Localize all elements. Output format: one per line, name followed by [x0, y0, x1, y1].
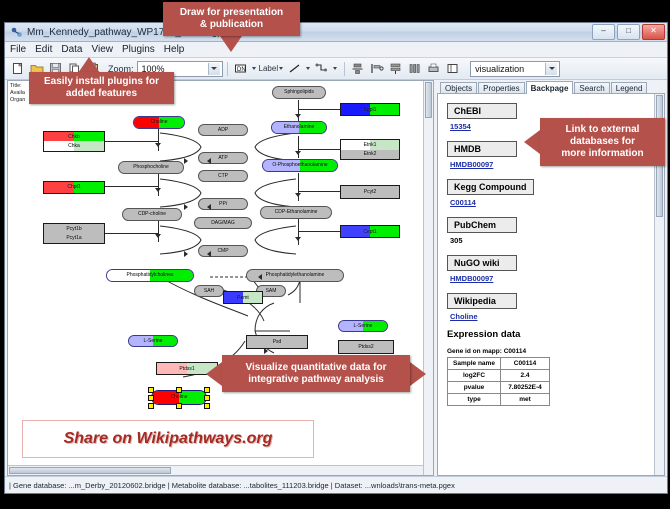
node-label: Sphingolipids — [284, 90, 314, 95]
table-row: Sample name C00114 — [448, 358, 550, 370]
table-row: type met — [448, 394, 550, 406]
arrow-down-4 — [295, 114, 301, 118]
gene-box-sgpl1[interactable]: Sgpl1 — [340, 103, 400, 116]
cell-key: log2FC — [448, 370, 501, 382]
canvas-hscrollbar[interactable] — [8, 465, 433, 475]
gene-box-etnk1[interactable]: Etnk1 — [340, 139, 400, 151]
cell-value: 2.4 — [501, 370, 550, 382]
callout-link-line1: Link to external — [561, 124, 643, 136]
callout-plugins-line2: added features — [44, 88, 159, 100]
gene-box-etnk2[interactable]: Etnk2 — [340, 149, 400, 160]
gene-label: Psd — [247, 339, 307, 345]
node-cmp[interactable]: CMP — [198, 245, 248, 257]
callout-link-arrow-icon — [524, 130, 540, 154]
cell-value: 7.80252E-4 — [501, 382, 550, 394]
pathway-canvas-panel[interactable]: Title: Availa Organ — [7, 80, 434, 476]
status-text: | Gene database: ...m_Derby_20120602.bri… — [9, 481, 455, 490]
tab-objects[interactable]: Objects — [440, 82, 477, 93]
db-header-chebi: ChEBI — [447, 103, 517, 119]
pathvisio-icon — [10, 26, 23, 39]
connector-dropdown-caret[interactable] — [333, 67, 337, 70]
gene-box-pcyt2[interactable]: Pcyt2 — [340, 185, 400, 199]
datanode-icon[interactable]: DN — [232, 60, 249, 77]
arrow-to-atp — [184, 158, 188, 164]
table-row: log2FC 2.4 — [448, 370, 550, 382]
canvas-hscroll-thumb[interactable] — [9, 467, 171, 474]
svg-text:DN: DN — [237, 67, 246, 73]
tab-search[interactable]: Search — [574, 82, 609, 93]
gene-box-psd[interactable]: Psd — [246, 335, 308, 349]
arrow-from-atp — [207, 158, 211, 164]
node-label: ATP — [218, 156, 227, 161]
arrow-from-cmp — [207, 251, 211, 257]
callout-plugins-arrow-icon — [78, 57, 100, 73]
callout-draw-line1: Draw for presentation — [180, 7, 283, 19]
align-center-icon[interactable] — [349, 60, 366, 77]
callout-visualize-line1: Visualize quantitative data for — [246, 362, 387, 374]
properties-icon[interactable] — [444, 60, 461, 77]
visualization-combo[interactable]: visualization — [470, 61, 560, 77]
gene-label: Pcyt2 — [341, 189, 399, 195]
line-dropdown-caret[interactable] — [306, 67, 310, 70]
callout-draw-arrow-icon — [220, 36, 242, 52]
tab-backpage[interactable]: Backpage — [526, 81, 574, 94]
gene-label: Etnk1 — [341, 142, 399, 148]
node-label: Choline — [151, 120, 168, 125]
canvas-vscrollbar[interactable] — [423, 81, 433, 475]
side-panel-tabs: Objects Properties Backpage Search Legen… — [437, 80, 665, 94]
chevron-down-icon[interactable] — [208, 63, 220, 75]
callout-visualize: Visualize quantitative data for integrat… — [222, 355, 410, 392]
menu-plugins[interactable]: Plugins — [122, 44, 155, 55]
callout-visualize-line2: integrative pathway analysis — [246, 374, 387, 386]
node-label: ADP — [218, 128, 228, 133]
callout-share: Share on Wikipathways.org — [22, 420, 314, 458]
menu-view[interactable]: View — [91, 44, 113, 55]
callout-link-line3: more information — [561, 148, 643, 160]
menu-data[interactable]: Data — [61, 44, 82, 55]
arrow-down-1 — [155, 143, 161, 147]
align-left-icon[interactable] — [368, 60, 385, 77]
cell-value: C00114 — [501, 358, 550, 370]
node-choline[interactable]: Choline — [133, 116, 185, 129]
callout-visualize-arrow-right-icon — [410, 362, 426, 386]
callout-visualize-text: Visualize quantitative data for integrat… — [240, 359, 393, 389]
arrow-from-ppi — [207, 204, 211, 210]
arrow-to-ethanolamine2 — [264, 348, 268, 354]
toolbar-separator — [227, 62, 228, 76]
node-cdp-choline[interactable]: CDP-choline — [122, 208, 182, 221]
callout-plugins-text: Easily install plugins for added feature… — [38, 73, 165, 103]
arrow-to-ppi — [184, 204, 188, 210]
node-label: Ethanolamine — [284, 125, 315, 130]
line-icon[interactable] — [286, 60, 303, 77]
gene-box-chka[interactable]: Chka — [43, 141, 105, 152]
node-label: SAH — [204, 289, 214, 294]
label-dropdown-caret[interactable] — [279, 67, 283, 70]
node-label: SAM — [266, 289, 277, 294]
distribute-icon[interactable] — [406, 60, 423, 77]
label-dropdown-label: Label — [259, 64, 279, 73]
node-label: Choline — [171, 395, 188, 400]
node-cdp-ethanolamine[interactable]: CDP-Ethanolamine — [260, 206, 332, 219]
node-phosphocholine[interactable]: Phosphocholine — [118, 161, 184, 174]
gene-label: Pcyt1b — [44, 226, 104, 232]
connector-icon[interactable] — [313, 60, 330, 77]
node-label: O-Phosphoethanolamine — [272, 163, 327, 168]
screenshot-root: Mm_Kennedy_pathway_WP1771_45176.gpml – □… — [0, 0, 670, 509]
gene-box-chpt1[interactable]: Chpt1 — [43, 181, 105, 194]
gene-label: Ptdss2 — [339, 344, 393, 350]
cell-key: Sample name — [448, 358, 501, 370]
stack-icon[interactable] — [387, 60, 404, 77]
gene-label: Pcyt1a — [44, 235, 104, 241]
node-dagmag[interactable]: DAG/MAG — [194, 217, 252, 229]
window-controls: – □ ✕ — [592, 24, 665, 40]
node-sphingolipids[interactable]: Sphingolipids — [272, 86, 326, 99]
callout-share-text: Share on Wikipathways.org — [64, 430, 273, 448]
arrow-to-cmp — [184, 251, 188, 257]
table-row: pvalue 7.80252E-4 — [448, 382, 550, 394]
db-section-kegg: Kegg Compound C00114 — [447, 177, 664, 207]
node-l-serine-right[interactable]: L-Serine — [338, 320, 388, 332]
pathway-canvas[interactable]: Title: Availa Organ — [8, 81, 433, 475]
db-header-pubchem: PubChem — [447, 217, 517, 233]
maximize-button[interactable]: □ — [617, 24, 640, 40]
node-sah[interactable]: SAH — [194, 285, 224, 297]
db-section-pubchem: PubChem 305 — [447, 215, 664, 245]
node-adp[interactable]: ADP — [198, 124, 248, 136]
node-ctp[interactable]: CTP — [198, 170, 248, 182]
gene-box-pemt[interactable]: Pemt — [223, 291, 263, 304]
callout-link-line2: databases for — [561, 136, 643, 148]
menu-file[interactable]: File — [10, 44, 26, 55]
node-label: Phosphatidylcholines — [127, 273, 174, 278]
canvas-vscroll-thumb[interactable] — [425, 82, 432, 118]
gene-id-line: Gene id on mapp: C00114 — [447, 348, 664, 355]
db-value-pubchem: 305 — [450, 236, 664, 245]
gene-box-cept1[interactable]: Cept1 — [340, 225, 400, 238]
callout-link-text: Link to external databases for more info… — [555, 121, 649, 163]
node-label: CDP-Ethanolamine — [275, 210, 318, 215]
cell-key: type — [448, 394, 501, 406]
cell-key: pvalue — [448, 382, 501, 394]
callout-draw-text: Draw for presentation & publication — [174, 4, 289, 34]
callout-draw-line2: & publication — [180, 19, 283, 31]
visualization-chevron-down-icon[interactable] — [545, 63, 557, 75]
db-header-hmdb: HMDB — [447, 141, 517, 157]
callout-plugins: Easily install plugins for added feature… — [29, 72, 174, 104]
gene-box-ptdss2[interactable]: Ptdss2 — [338, 340, 394, 354]
arrow-down-5 — [295, 151, 301, 155]
db-section-wikipedia: Wikipedia Choline — [447, 291, 664, 321]
node-atp[interactable]: ATP — [198, 152, 248, 164]
db-section-nugo: NuGO wiki HMDB00097 — [447, 253, 664, 283]
close-button[interactable]: ✕ — [642, 24, 665, 40]
expression-table: Sample name C00114 log2FC 2.4 pvalue 7.8… — [447, 357, 550, 406]
node-o-phosphoethanolamine[interactable]: O-Phosphoethanolamine — [262, 159, 338, 172]
node-label: Phosphatidylethanolamine — [266, 273, 325, 278]
node-ethanolamine[interactable]: Ethanolamine — [271, 121, 327, 134]
menubar: File Edit Data View Plugins Help — [5, 42, 667, 58]
gene-box-pcyt1a[interactable]: Pcyt1a — [43, 233, 105, 244]
visualization-value: visualization — [475, 64, 524, 74]
node-label: L-Serine — [144, 339, 163, 344]
expression-data-heading: Expression data — [447, 329, 664, 340]
db-header-kegg-compound: Kegg Compound — [447, 179, 534, 195]
db-link-wikipedia[interactable]: Choline — [450, 312, 664, 321]
print-icon[interactable] — [425, 60, 442, 77]
db-header-wikipedia: Wikipedia — [447, 293, 517, 309]
db-link-nugo-wiki[interactable]: HMDB00097 — [450, 274, 664, 283]
node-label: Phosphocholine — [133, 165, 169, 170]
gene-label: Cept1 — [341, 229, 399, 235]
tab-legend[interactable]: Legend — [611, 82, 648, 93]
minimize-button[interactable]: – — [592, 24, 615, 40]
menu-help[interactable]: Help — [164, 44, 185, 55]
status-bar: | Gene database: ...m_Derby_20120602.bri… — [5, 476, 667, 493]
node-label: CDP-choline — [138, 212, 166, 217]
window-titlebar: Mm_Kennedy_pathway_WP1771_45176.gpml – □… — [5, 23, 667, 42]
callout-draw: Draw for presentation & publication — [163, 2, 300, 36]
arrow-down-2 — [155, 188, 161, 192]
node-label: PPi — [219, 202, 227, 207]
datanode-dropdown-caret[interactable] — [252, 67, 256, 70]
node-label: L-Serine — [354, 324, 373, 329]
gene-label: Chka — [44, 143, 104, 149]
toolbar-separator-2 — [344, 62, 345, 76]
node-label: DAG/MAG — [211, 221, 235, 226]
node-label: CMP — [217, 249, 228, 254]
db-link-kegg-compound[interactable]: C00114 — [450, 198, 664, 207]
arrow-pemt — [258, 274, 262, 280]
arrow-down-6 — [295, 193, 301, 197]
gene-label: Chpt1 — [44, 184, 104, 190]
gene-label: Etnk2 — [341, 151, 399, 157]
callout-link: Link to external databases for more info… — [540, 118, 665, 166]
node-phosphatidylcholines[interactable]: Phosphatidylcholines — [106, 269, 194, 282]
node-ppi[interactable]: PPi — [198, 198, 248, 210]
gene-label: Chkb — [44, 134, 104, 140]
gene-label: Pemt — [224, 295, 262, 301]
db-header-nugo-wiki: NuGO wiki — [447, 255, 517, 271]
cell-value: met — [501, 394, 550, 406]
arrow-down-3 — [155, 234, 161, 238]
menu-edit[interactable]: Edit — [35, 44, 52, 55]
arrow-down-7 — [295, 237, 301, 241]
node-l-serine-left[interactable]: L-Serine — [128, 335, 178, 347]
new-file-icon[interactable] — [9, 60, 26, 77]
callout-visualize-arrow-left-icon — [206, 362, 222, 386]
tab-properties[interactable]: Properties — [478, 82, 524, 93]
node-label: CTP — [218, 174, 228, 179]
gene-label: Sgpl1 — [341, 107, 399, 113]
callout-plugins-line1: Easily install plugins for — [44, 76, 159, 88]
